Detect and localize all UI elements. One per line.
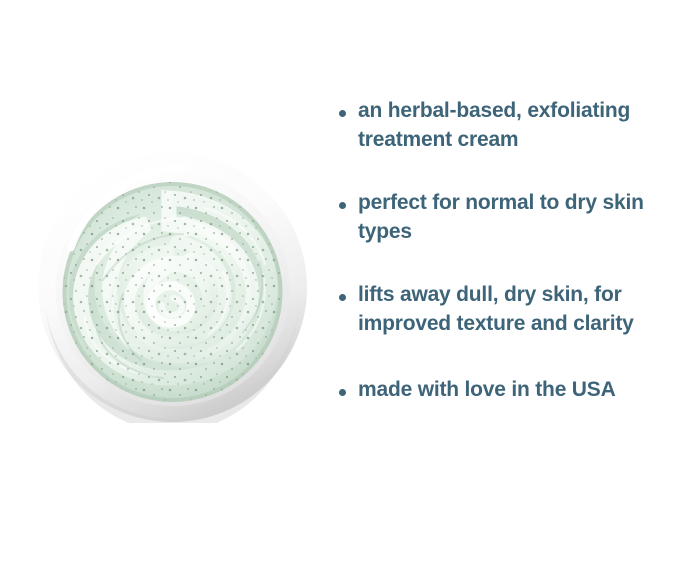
list-item: an herbal-based, exfoliating treatment c… bbox=[336, 96, 672, 154]
bullet-dot-icon bbox=[339, 202, 346, 209]
cream-surface bbox=[63, 182, 283, 402]
bullet-dot-icon bbox=[339, 294, 346, 301]
feature-text: perfect for normal to dry skin types bbox=[358, 188, 672, 246]
feature-text: made with love in the USA bbox=[358, 375, 672, 404]
feature-text: an herbal-based, exfoliating treatment c… bbox=[358, 96, 672, 154]
list-item: made with love in the USA bbox=[336, 375, 672, 404]
list-item: perfect for normal to dry skin types bbox=[336, 188, 672, 246]
cream-jar-illustration bbox=[37, 152, 308, 423]
feature-text: lifts away dull, dry skin, for improved … bbox=[358, 280, 672, 338]
bullet-dot-icon bbox=[339, 389, 346, 396]
product-feature-panel: an herbal-based, exfoliating treatment c… bbox=[0, 0, 679, 580]
list-item: lifts away dull, dry skin, for improved … bbox=[336, 280, 672, 338]
bullet-dot-icon bbox=[339, 110, 346, 117]
product-image-cream-jar bbox=[37, 152, 308, 423]
feature-bullet-list: an herbal-based, exfoliating treatment c… bbox=[336, 96, 672, 404]
